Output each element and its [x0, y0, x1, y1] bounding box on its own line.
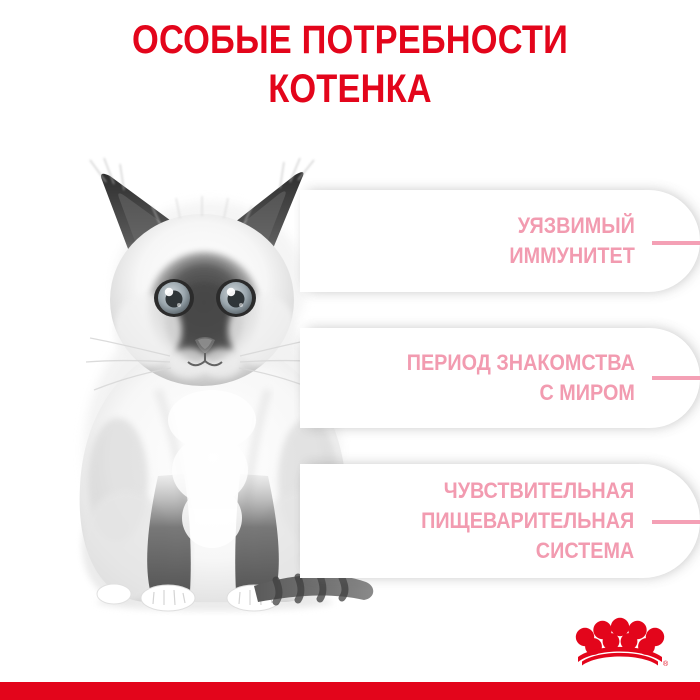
feature-card-sensitive-digestive-system[interactable]: ЧУВСТВИТЕЛЬНАЯ ПИЩЕВАРИТЕЛЬНАЯ СИСТЕМА	[300, 464, 700, 578]
connector-line-3	[652, 520, 700, 524]
royal-canin-crown-logo: ®	[570, 608, 670, 670]
bottom-red-bar	[0, 682, 700, 700]
feature-label: ЧУВСТВИТЕЛЬНАЯ ПИЩЕВАРИТЕЛЬНАЯ СИСТЕМА	[421, 476, 638, 566]
trademark-symbol: ®	[663, 660, 669, 668]
connector-line-1	[652, 241, 700, 245]
poster-canvas: ОСОБЫЕ ПОТРЕБНОСТИ КОТЕНКА	[0, 0, 700, 700]
page-title: ОСОБЫЕ ПОТРЕБНОСТИ КОТЕНКА	[49, 16, 651, 114]
feature-card-world-discovery-period[interactable]: ПЕРИОД ЗНАКОМСТВА С МИРОМ	[300, 328, 700, 428]
feature-label: УЯЗВИМЫЙ ИММУНИТЕТ	[509, 211, 638, 271]
connector-line-2	[652, 376, 700, 380]
feature-card-vulnerable-immunity[interactable]: УЯЗВИМЫЙ ИММУНИТЕТ	[300, 190, 700, 292]
feature-label: ПЕРИОД ЗНАКОМСТВА С МИРОМ	[406, 348, 638, 408]
